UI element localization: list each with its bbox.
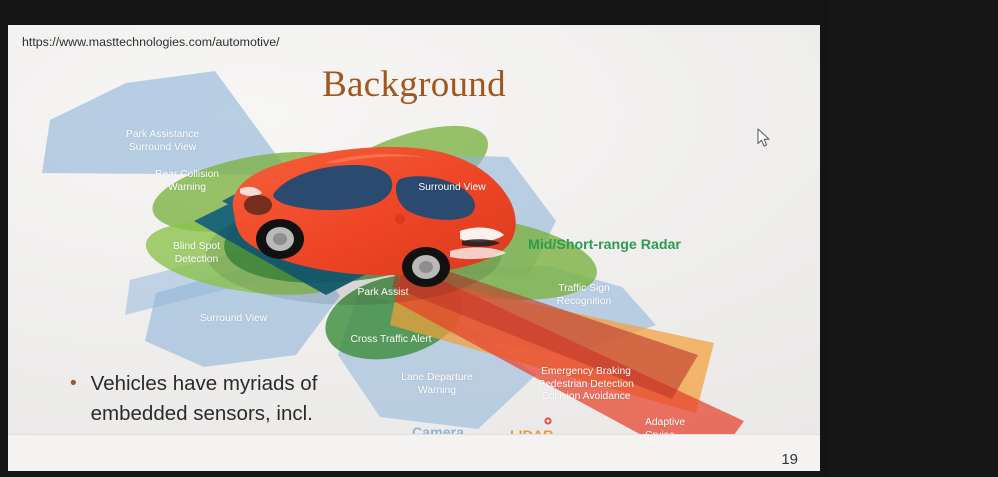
zoom-meeting-window: Park Assistance Surround View Rear Colli… xyxy=(0,0,998,477)
mouse-cursor-icon xyxy=(757,128,771,153)
shared-screen-slide[interactable]: Park Assistance Surround View Rear Colli… xyxy=(8,25,820,471)
slide-page-number: 19 xyxy=(781,451,798,468)
page-title: Background xyxy=(8,63,820,106)
slide-footer-bar xyxy=(8,434,820,471)
participant-video-panel: Buon Kiong Lau Liying Nie Liying Nie 1-M… xyxy=(826,0,998,477)
